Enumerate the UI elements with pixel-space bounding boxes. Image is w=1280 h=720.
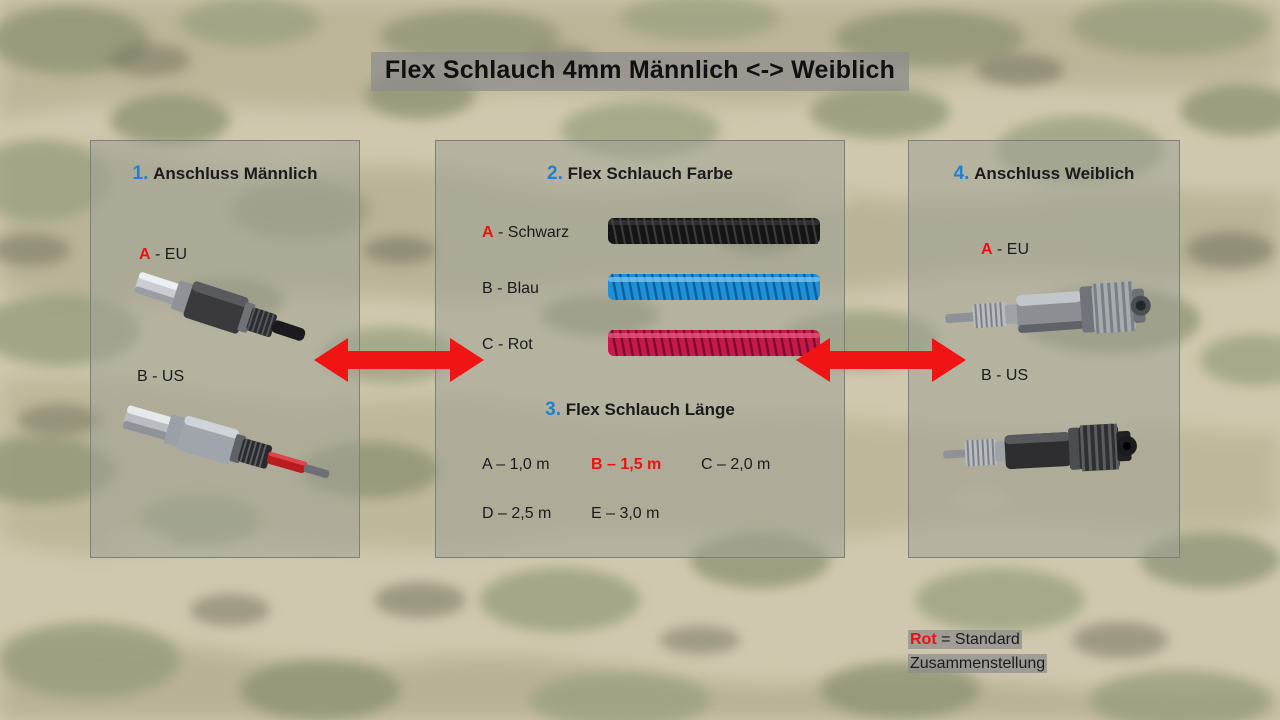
option-maennlich-b-key: B	[137, 368, 148, 385]
hose-swatch-black	[608, 209, 820, 253]
panel2-length-step-number: 3.	[545, 399, 561, 420]
option-laenge-e[interactable]: E – 3,0 m	[591, 505, 659, 523]
hose-swatch-red	[608, 321, 820, 365]
option-farbe-a[interactable]: A - Schwarz	[482, 224, 569, 242]
connector-male-us-image	[111, 399, 351, 509]
note-highlight-word: Rot	[910, 631, 937, 648]
page-title: Flex Schlauch 4mm Männlich <-> Weiblich	[371, 52, 909, 91]
panel2-length-heading: 3. Flex Schlauch Länge	[436, 399, 844, 421]
option-laenge-c-text: C – 2,0 m	[701, 456, 770, 473]
option-weiblich-a-key: A	[981, 241, 993, 258]
panel2-length-title: Flex Schlauch Länge	[566, 400, 735, 419]
panel2-title: Flex Schlauch Farbe	[568, 164, 733, 183]
option-farbe-b-key: B	[482, 280, 493, 297]
panel1-heading: 1. Anschluss Männlich	[91, 163, 359, 185]
option-laenge-a[interactable]: A – 1,0 m	[482, 456, 550, 474]
panel3-heading: 4. Anschluss Weiblich	[909, 163, 1179, 185]
option-farbe-a-key: A	[482, 224, 494, 241]
option-maennlich-a-sep: -	[151, 246, 165, 263]
option-weiblich-a[interactable]: A - EU	[981, 241, 1029, 259]
panel1-title: Anschluss Männlich	[153, 164, 317, 183]
option-laenge-d-text: D – 2,5 m	[482, 505, 551, 522]
double-arrow-icon-right	[790, 332, 972, 388]
option-maennlich-a-key: A	[139, 246, 151, 263]
option-laenge-b[interactable]: B – 1,5 m	[591, 456, 661, 474]
option-laenge-e-text: E – 3,0 m	[591, 505, 659, 522]
panel3-title: Anschluss Weiblich	[974, 164, 1134, 183]
note-line-1-rest: = Standard	[937, 631, 1020, 648]
hose-swatch-blue	[608, 265, 820, 309]
option-weiblich-a-label: EU	[1007, 241, 1029, 258]
panel3-step-number: 4.	[954, 163, 970, 184]
option-laenge-c[interactable]: C – 2,0 m	[701, 456, 770, 474]
option-farbe-b-sep: -	[493, 280, 507, 297]
option-maennlich-b-sep: -	[148, 368, 162, 385]
option-farbe-c-label: Rot	[508, 336, 533, 353]
option-maennlich-b-label: US	[162, 368, 184, 385]
option-farbe-b[interactable]: B - Blau	[482, 280, 539, 298]
note-line-2: Zusammenstellung	[908, 654, 1047, 673]
connector-female-us-image	[935, 403, 1165, 495]
note-line-2-wrap: Zusammenstellung	[908, 652, 1138, 676]
option-laenge-b-text: B – 1,5 m	[591, 456, 661, 473]
connector-male-eu-image	[119, 271, 339, 361]
panel1-step-number: 1.	[133, 163, 149, 184]
option-farbe-a-sep: -	[494, 224, 508, 241]
panel-flex-schlauch: 2. Flex Schlauch Farbe A - Schwarz B - B…	[435, 140, 845, 558]
option-laenge-d[interactable]: D – 2,5 m	[482, 505, 551, 523]
option-maennlich-a-label: EU	[165, 246, 187, 263]
option-weiblich-b[interactable]: B - US	[981, 367, 1028, 385]
option-weiblich-a-sep: -	[993, 241, 1007, 258]
standard-configuration-note: Rot = Standard Zusammenstellung	[908, 628, 1138, 676]
option-maennlich-b[interactable]: B - US	[137, 368, 184, 386]
option-maennlich-a[interactable]: A - EU	[139, 246, 187, 264]
panel2-step-number: 2.	[547, 163, 563, 184]
option-laenge-a-text: A – 1,0 m	[482, 456, 550, 473]
option-weiblich-b-sep: -	[992, 367, 1006, 384]
note-line-1: Rot = Standard	[908, 628, 1138, 652]
option-weiblich-b-key: B	[981, 367, 992, 384]
option-farbe-b-label: Blau	[507, 280, 539, 297]
double-arrow-icon-left	[308, 332, 490, 388]
option-farbe-c-sep: -	[494, 336, 508, 353]
option-farbe-a-label: Schwarz	[508, 224, 569, 241]
option-weiblich-b-label: US	[1006, 367, 1028, 384]
page-title-wrapper: Flex Schlauch 4mm Männlich <-> Weiblich	[0, 52, 1280, 91]
panel2-heading: 2. Flex Schlauch Farbe	[436, 163, 844, 185]
